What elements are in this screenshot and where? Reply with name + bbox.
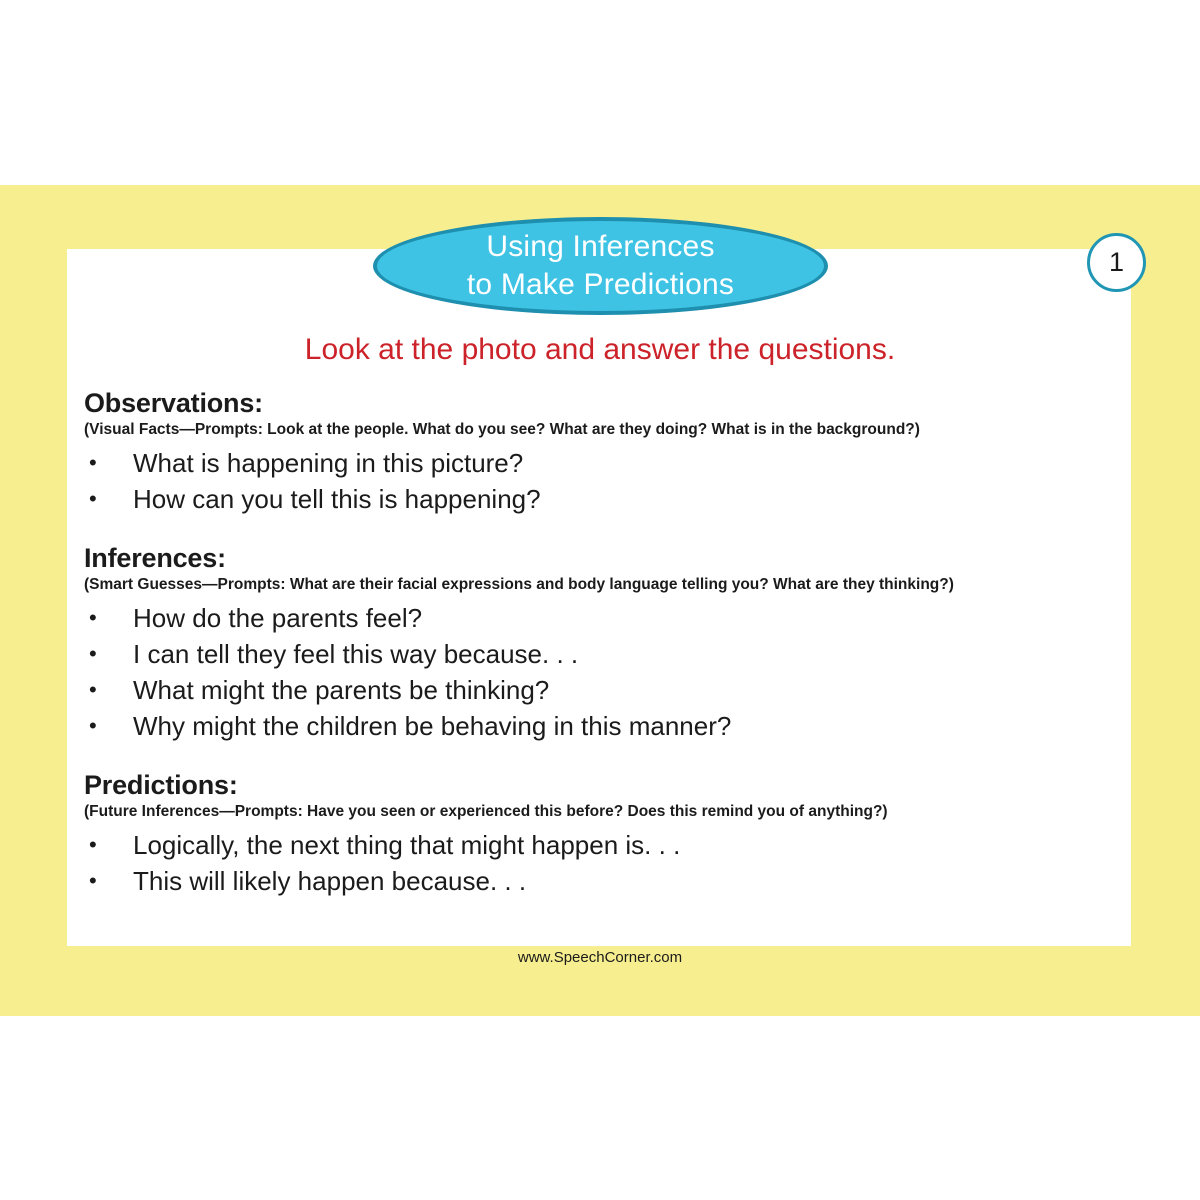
list-item-label: How do the parents feel? bbox=[133, 603, 422, 633]
bullet-list-inferences: •How do the parents feel? •I can tell th… bbox=[84, 600, 1114, 744]
section-heading-observations: Observations: bbox=[84, 388, 1114, 418]
section-gap bbox=[84, 744, 1114, 770]
list-item: •I can tell they feel this way because. … bbox=[84, 636, 1114, 672]
section-inferences: Inferences: (Smart Guesses—Prompts: What… bbox=[84, 543, 1114, 744]
list-item: •How can you tell this is happening? bbox=[84, 481, 1114, 517]
list-item: •This will likely happen because. . . bbox=[84, 863, 1114, 899]
section-subtitle-observations: (Visual Facts—Prompts: Look at the peopl… bbox=[84, 420, 1114, 440]
list-item: •What is happening in this picture? bbox=[84, 445, 1114, 481]
page-number-badge: 1 bbox=[1087, 233, 1146, 292]
section-heading-inferences: Inferences: bbox=[84, 543, 1114, 573]
bullet-icon: • bbox=[89, 827, 97, 863]
instruction-text: Look at the photo and answer the questio… bbox=[0, 333, 1200, 367]
section-gap bbox=[84, 517, 1114, 543]
list-item: •Why might the children be behaving in t… bbox=[84, 708, 1114, 744]
bullet-icon: • bbox=[89, 600, 97, 636]
bullet-icon: • bbox=[89, 636, 97, 672]
bullet-icon: • bbox=[89, 481, 97, 517]
worksheet-content: Observations: (Visual Facts—Prompts: Loo… bbox=[84, 388, 1114, 899]
bullet-icon: • bbox=[89, 863, 97, 899]
list-item-label: What might the parents be thinking? bbox=[133, 675, 549, 705]
list-item-label: Logically, the next thing that might hap… bbox=[133, 830, 680, 860]
section-predictions: Predictions: (Future Inferences—Prompts:… bbox=[84, 770, 1114, 899]
list-item-label: What is happening in this picture? bbox=[133, 448, 523, 478]
bullet-icon: • bbox=[89, 672, 97, 708]
section-subtitle-predictions: (Future Inferences—Prompts: Have you see… bbox=[84, 802, 1114, 822]
list-item-label: I can tell they feel this way because. .… bbox=[133, 639, 578, 669]
page-number-label: 1 bbox=[1109, 247, 1124, 278]
list-item: •Logically, the next thing that might ha… bbox=[84, 827, 1114, 863]
footer-website: www.SpeechCorner.com bbox=[0, 949, 1200, 966]
section-observations: Observations: (Visual Facts—Prompts: Loo… bbox=[84, 388, 1114, 517]
list-item: •How do the parents feel? bbox=[84, 600, 1114, 636]
section-subtitle-inferences: (Smart Guesses—Prompts: What are their f… bbox=[84, 575, 1114, 595]
bullet-icon: • bbox=[89, 708, 97, 744]
list-item-label: How can you tell this is happening? bbox=[133, 484, 541, 514]
list-item: •What might the parents be thinking? bbox=[84, 672, 1114, 708]
title-banner: Using Inferences to Make Predictions bbox=[373, 217, 828, 315]
bullet-icon: • bbox=[89, 445, 97, 481]
bullet-list-observations: •What is happening in this picture? •How… bbox=[84, 445, 1114, 517]
title-line-2: to Make Predictions bbox=[467, 266, 734, 304]
bullet-list-predictions: •Logically, the next thing that might ha… bbox=[84, 827, 1114, 899]
title-line-1: Using Inferences bbox=[486, 228, 714, 266]
list-item-label: This will likely happen because. . . bbox=[133, 866, 526, 896]
section-heading-predictions: Predictions: bbox=[84, 770, 1114, 800]
list-item-label: Why might the children be behaving in th… bbox=[133, 711, 731, 741]
